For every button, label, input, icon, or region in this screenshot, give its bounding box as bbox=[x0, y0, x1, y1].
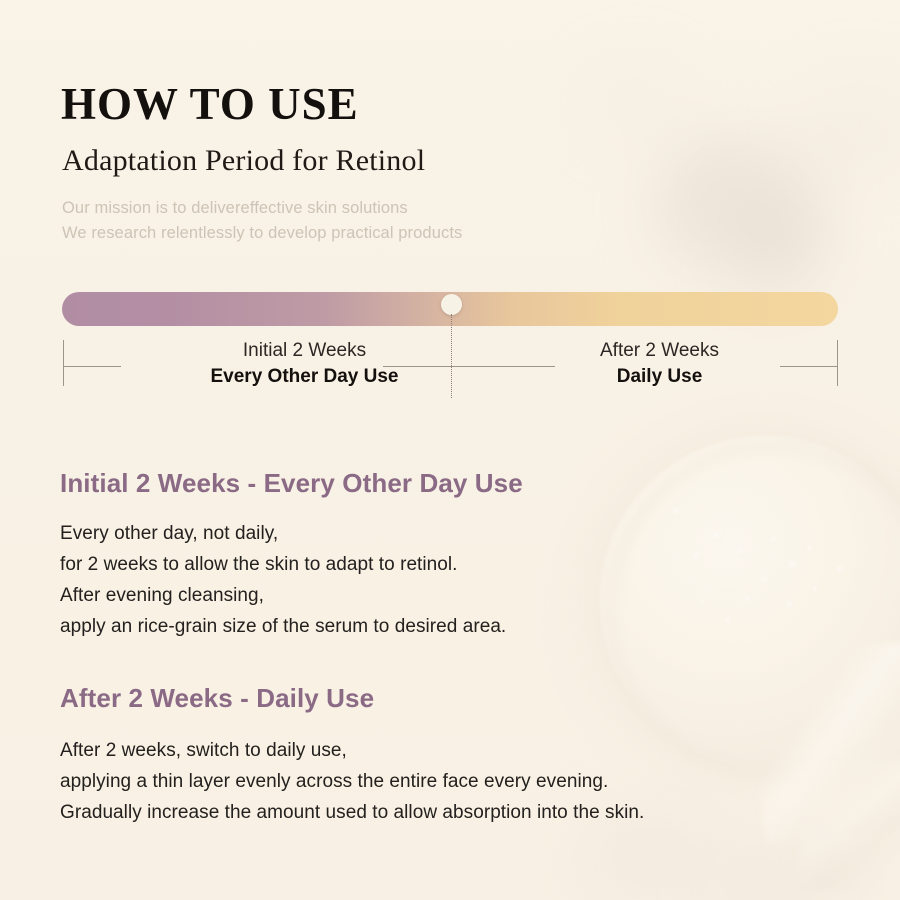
timeline-stage-initial-bottom-label: Every Other Day Use bbox=[162, 366, 447, 388]
background-dropper-tip bbox=[800, 760, 900, 890]
background-bubble bbox=[672, 508, 681, 517]
timeline-knob-marker[interactable] bbox=[441, 294, 462, 315]
timeline-bracket-right-vertical bbox=[837, 340, 838, 386]
section-body-line: applying a thin layer evenly across the … bbox=[60, 766, 644, 797]
timeline-divider-dotted-line bbox=[451, 314, 452, 398]
background-serum-dish-rim bbox=[606, 442, 900, 778]
timeline-stage-after-top-label: After 2 Weeks bbox=[517, 340, 802, 362]
adaptation-timeline: Initial 2 Weeks Every Other Day Use Afte… bbox=[62, 292, 838, 402]
section-body-line: Gradually increase the amount used to al… bbox=[60, 797, 644, 828]
section-body-line: After 2 weeks, switch to daily use, bbox=[60, 735, 644, 766]
section-body-line: apply an rice-grain size of the serum to… bbox=[60, 611, 506, 642]
tagline-line-1: Our mission is to delivereffective skin … bbox=[62, 196, 462, 221]
background-bubble bbox=[788, 560, 800, 572]
background-serum-dish bbox=[600, 436, 900, 766]
background-bubble bbox=[760, 575, 771, 586]
background-bubble bbox=[724, 616, 733, 625]
section-body-line: Every other day, not daily, bbox=[60, 518, 506, 549]
background-petal-blob bbox=[790, 55, 900, 185]
background-bubble bbox=[744, 596, 752, 604]
background-petal-blob bbox=[648, 120, 838, 295]
section-body-after-2-weeks: After 2 weeks, switch to daily use, appl… bbox=[60, 735, 644, 828]
background-bubble bbox=[700, 600, 707, 607]
section-heading-initial-2-weeks: Initial 2 Weeks - Every Other Day Use bbox=[60, 468, 523, 499]
background-bubble bbox=[692, 552, 702, 562]
background-dropper bbox=[747, 638, 900, 843]
timeline-stage-after: After 2 Weeks Daily Use bbox=[517, 340, 802, 389]
background-bubble bbox=[806, 545, 815, 554]
page-subtitle: Adaptation Period for Retinol bbox=[62, 143, 425, 179]
tagline: Our mission is to delivereffective skin … bbox=[62, 196, 462, 246]
background-bubble bbox=[812, 586, 820, 594]
how-to-use-infographic: HOW TO USE Adaptation Period for Retinol… bbox=[0, 0, 900, 900]
background-bottom-blob bbox=[690, 830, 890, 900]
timeline-stage-initial: Initial 2 Weeks Every Other Day Use bbox=[162, 340, 447, 389]
background-bubble bbox=[770, 536, 778, 544]
page-title: HOW TO USE bbox=[61, 82, 359, 127]
background-bubble bbox=[712, 530, 725, 543]
section-body-initial-2-weeks: Every other day, not daily, for 2 weeks … bbox=[60, 518, 506, 642]
background-bubble bbox=[836, 565, 846, 575]
section-body-line: for 2 weeks to allow the skin to adapt t… bbox=[60, 549, 506, 580]
timeline-bracket-left-vertical bbox=[63, 340, 64, 386]
section-heading-after-2-weeks: After 2 Weeks - Daily Use bbox=[60, 683, 374, 714]
background-petal-blob bbox=[560, 40, 710, 160]
timeline-stage-initial-top-label: Initial 2 Weeks bbox=[162, 340, 447, 362]
timeline-stage-after-bottom-label: Daily Use bbox=[517, 366, 802, 388]
tagline-line-2: We research relentlessly to develop prac… bbox=[62, 221, 462, 246]
section-body-line: After evening cleansing, bbox=[60, 580, 506, 611]
background-bubble bbox=[737, 548, 746, 557]
timeline-bracket-left-horizontal bbox=[63, 366, 121, 367]
background-bubble bbox=[786, 600, 796, 610]
